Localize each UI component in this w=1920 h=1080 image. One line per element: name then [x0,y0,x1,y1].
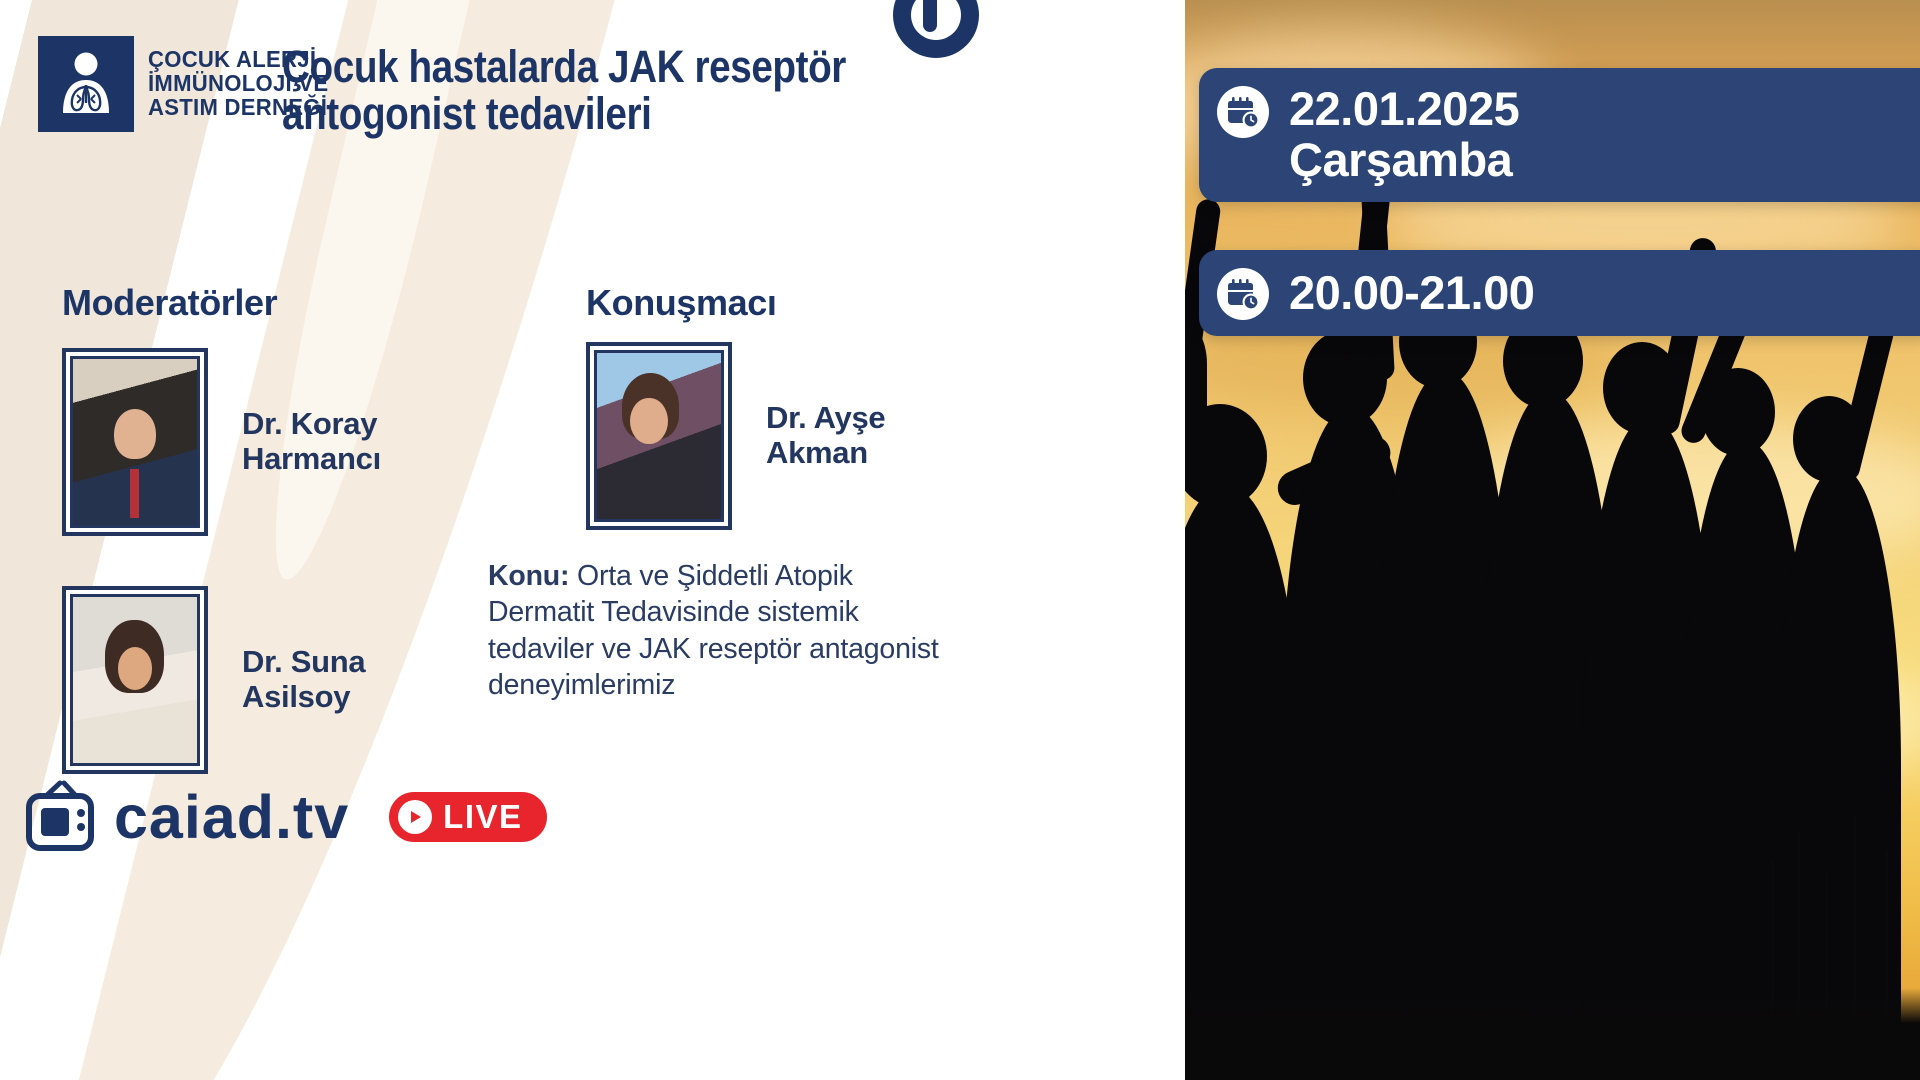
moderator-card: Dr. Koray Harmancı [62,348,381,536]
speaker-card: Dr. Ayşe Akman [586,342,885,530]
event-time: 20.00-21.00 [1289,268,1534,319]
avatar [62,586,208,774]
speaker-heading: Konuşmacı [586,282,776,324]
live-label: LIVE [443,798,522,836]
moderator-name: Dr. Koray Harmancı [242,407,381,476]
speaker-name-line-1: Dr. Ayşe [766,401,885,436]
moderator-name-line-2: Harmancı [242,442,381,477]
topic-description: Konu: Orta ve Şiddetli Atopik Dermatit T… [488,558,966,704]
play-icon [398,800,432,834]
television-icon [26,780,108,854]
moderator-name-line-1: Dr. Suna [242,645,365,680]
event-time-badge: 20.00-21.00 [1199,250,1920,336]
avatar [586,342,732,530]
topic-label: Konu: [488,560,569,592]
event-date: 22.01.2025 [1289,84,1519,135]
calendar-clock-icon [1217,86,1269,138]
caiad-tv-logo[interactable]: caiad.tv LIVE [26,780,547,854]
content-panel: ÇOCUK ALERJİ İMMÜNOLOJİ VE ASTIM DERNEĞİ… [0,0,1185,1080]
calendar-clock-icon [1217,268,1269,320]
event-date-badge: 22.01.2025 Çarşamba [1199,68,1920,202]
page-title: Çocuk hastalarda JAK reseptör antogonist… [282,44,884,138]
moderators-heading: Moderatörler [62,282,277,324]
moderator-name: Dr. Suna Asilsoy [242,645,365,714]
moderator-name-line-2: Asilsoy [242,680,365,715]
moderator-card: Dr. Suna Asilsoy [62,586,365,774]
caiad-tv-wordmark: caiad.tv [114,787,349,848]
event-weekday: Çarşamba [1289,135,1519,186]
avatar [62,348,208,536]
person-lungs-icon [38,36,134,132]
live-badge[interactable]: LIVE [389,792,546,842]
speaker-name: Dr. Ayşe Akman [766,401,885,470]
moderator-name-line-1: Dr. Koray [242,407,381,442]
speaker-name-line-2: Akman [766,436,885,471]
